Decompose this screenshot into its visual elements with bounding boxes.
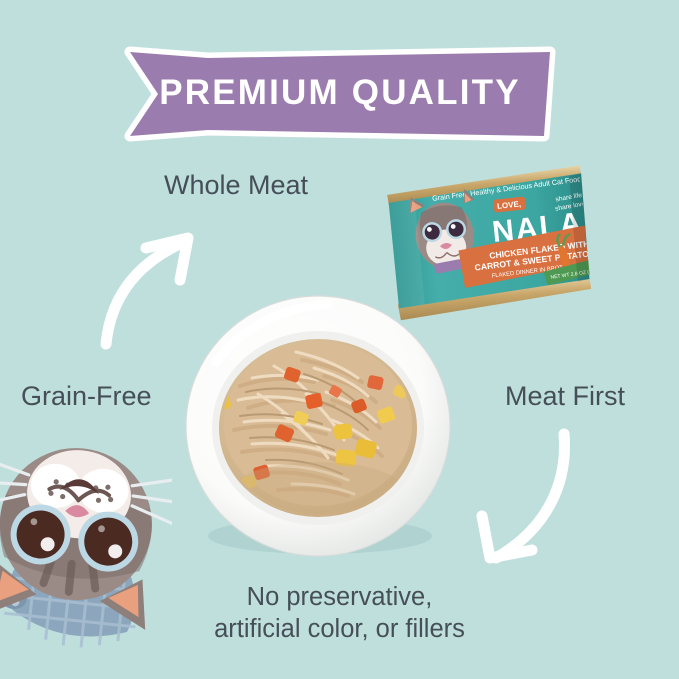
arrow-down-left-shape <box>452 424 582 576</box>
cat-illustration <box>0 434 172 650</box>
food-bowl-graphic <box>182 290 454 562</box>
promo-image: Premium Quality Whole Meat Grain-Free Me… <box>0 0 679 679</box>
food-bowl <box>182 290 454 562</box>
feature-label-meat-first: Meat First <box>505 381 625 412</box>
premium-quality-banner: Premium Quality <box>124 46 556 142</box>
banner-label: Premium Quality <box>124 46 556 142</box>
no-preservative-line-1: No preservative, <box>130 581 550 613</box>
arrow-down-left-icon <box>452 424 582 576</box>
no-preservative-line-2: artificial color, or fillers <box>130 613 550 645</box>
feature-label-grain-free: Grain-Free <box>21 381 152 412</box>
cat-illustration-graphic <box>0 434 172 650</box>
feature-label-whole-meat: Whole Meat <box>164 170 308 201</box>
feature-label-no-preservative: No preservative, artificial color, or fi… <box>130 581 550 646</box>
